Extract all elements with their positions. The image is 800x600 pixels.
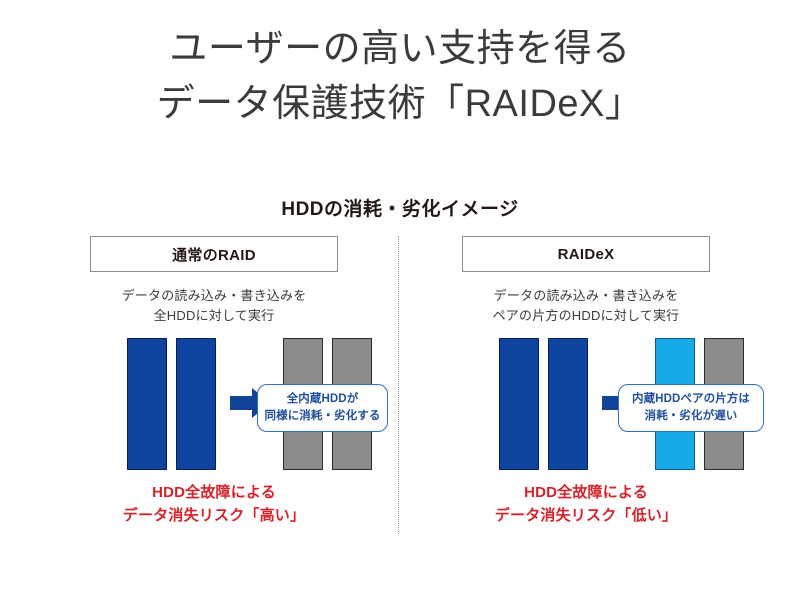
panel-description-raidex: データの読み込み・書き込みを ペアの片方のHDDに対して実行: [418, 286, 754, 326]
panel-raidex: RAIDeX データの読み込み・書き込みを ペアの片方のHDDに対して実行: [418, 236, 754, 326]
disk-bar-1: [127, 338, 167, 470]
callout-line-2: 消耗・劣化が遅い: [645, 408, 738, 425]
risk-line-1: HDD全故障による: [418, 482, 754, 505]
diagram-raidex: 内蔵HDDペアの片方は 消耗・劣化が遅い: [418, 338, 754, 470]
page-title-line-2: データ保護技術「RAIDeX」: [0, 77, 800, 132]
panel-desc-line-2: 全HDDに対して実行: [46, 306, 382, 326]
risk-line-1: HDD全故障による: [46, 482, 382, 505]
callout-line-1: 全内蔵HDDが: [287, 391, 359, 408]
risk-line-2: データ消失リスク「低い」: [418, 505, 754, 528]
disk-bar-2: [176, 338, 216, 470]
callout-line-1: 内蔵HDDペアの片方は: [632, 391, 750, 408]
disk-bar-2: [548, 338, 588, 470]
callout-raidex: 内蔵HDDペアの片方は 消耗・劣化が遅い: [618, 384, 764, 432]
section-heading: HDDの消耗・劣化イメージ: [0, 194, 800, 221]
callout-normal-raid: 全内蔵HDDが 同様に消耗・劣化する: [257, 384, 388, 432]
panel-header-raidex: RAIDeX: [462, 236, 710, 272]
panel-desc-line-1: データの読み込み・書き込みを: [46, 286, 382, 306]
page-title: ユーザーの高い支持を得る データ保護技術「RAIDeX」: [0, 22, 800, 132]
risk-line-2: データ消失リスク「高い」: [46, 505, 382, 528]
risk-text-normal-raid: HDD全故障による データ消失リスク「高い」: [46, 482, 382, 527]
panel-header-normal-raid: 通常のRAID: [90, 236, 338, 272]
risk-text-raidex: HDD全故障による データ消失リスク「低い」: [418, 482, 754, 527]
panel-normal-raid: 通常のRAID データの読み込み・書き込みを 全HDDに対して実行: [46, 236, 382, 326]
panel-desc-line-1: データの読み込み・書き込みを: [418, 286, 754, 306]
page-title-line-1: ユーザーの高い支持を得る: [0, 22, 800, 77]
panel-desc-line-2: ペアの片方のHDDに対して実行: [418, 306, 754, 326]
disk-bar-1: [499, 338, 539, 470]
panel-divider: [398, 236, 399, 534]
diagram-normal-raid: 全内蔵HDDが 同様に消耗・劣化する: [46, 338, 382, 470]
callout-line-2: 同様に消耗・劣化する: [265, 408, 381, 425]
panel-description-normal-raid: データの読み込み・書き込みを 全HDDに対して実行: [46, 286, 382, 326]
